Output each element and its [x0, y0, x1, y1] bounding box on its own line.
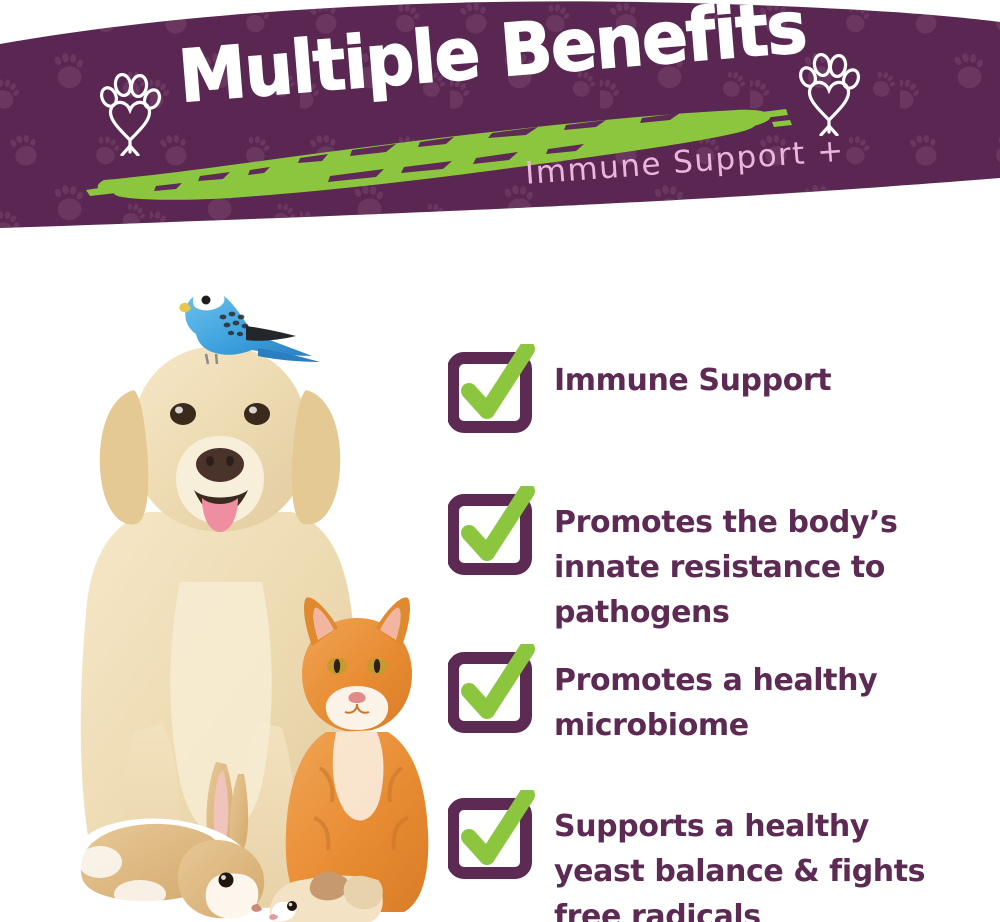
product-benefits-infographic: Multiple Benefits Immune Support +	[0, 0, 1000, 922]
list-item: Promotes a healthy microbiome	[448, 644, 954, 748]
checkbox-checked-icon[interactable]	[448, 344, 540, 434]
list-item-label: Immune Support	[554, 344, 831, 403]
list-item: Immune Support	[448, 344, 831, 434]
pets-group-photo	[30, 262, 450, 922]
list-item-label: Promotes a healthy microbiome	[554, 644, 954, 748]
checkbox-checked-icon[interactable]	[448, 644, 540, 734]
list-item-label: Supports a healthy yeast balance & fight…	[554, 790, 954, 922]
list-item: Promotes the body’s innate resistance to…	[448, 486, 954, 635]
list-item-label: Promotes the body’s innate resistance to…	[554, 486, 954, 635]
header-banner: Multiple Benefits Immune Support +	[0, 0, 1000, 250]
checkbox-checked-icon[interactable]	[448, 790, 540, 880]
list-item: Supports a healthy yeast balance & fight…	[448, 790, 954, 922]
checkbox-checked-icon[interactable]	[448, 486, 540, 576]
banner-background	[0, 0, 1000, 250]
